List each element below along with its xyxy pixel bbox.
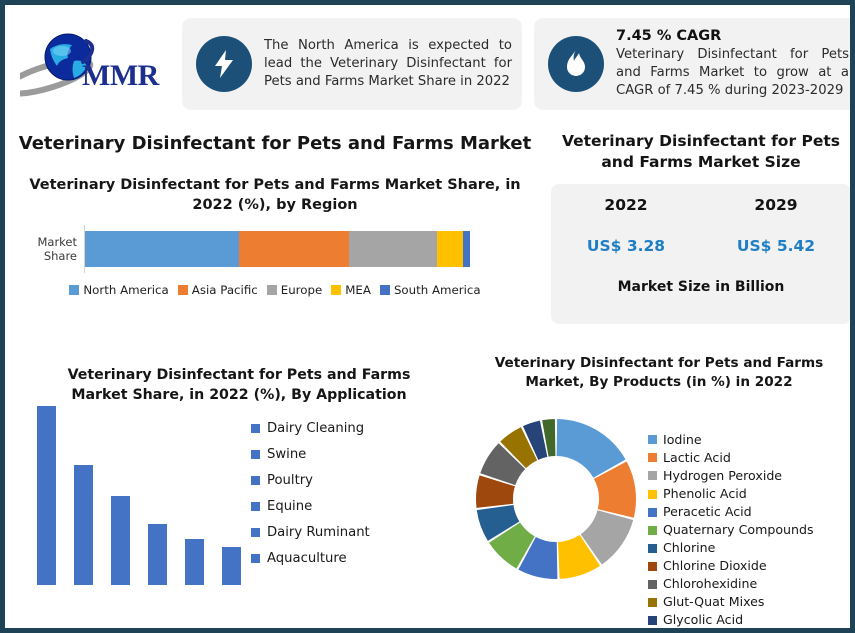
region-legend: North AmericaAsia PacificEuropeMEASouth … [15,283,535,297]
region-segment-asia-pacific [239,231,349,267]
legend-swatch-icon [331,285,341,295]
highlight-card-cagr: 7.45 % CAGR Veterinary Disinfectant for … [534,18,855,110]
region-legend-item: Asia Pacific [178,283,258,297]
application-chart-title: Veterinary Disinfectant for Pets and Far… [19,365,459,405]
application-bar [222,547,241,585]
region-chart-title: Veterinary Disinfectant for Pets and Far… [15,176,535,215]
products-legend-label: Peracetic Acid [663,505,752,519]
market-size-unit: Market Size in Billion [551,279,851,295]
application-legend-item: Dairy Cleaning [251,421,459,436]
region-legend-label: Asia Pacific [192,283,258,297]
region-category-label: Market Share [15,235,84,264]
application-legend-label: Dairy Cleaning [267,421,364,436]
market-size-title: Veterinary Disinfectant for Pets and Far… [551,131,851,173]
products-legend-label: Chlorine Dioxide [663,559,767,573]
region-legend-label: South America [394,283,481,297]
legend-swatch-icon [648,544,657,553]
page-title: Veterinary Disinfectant for Pets and Far… [15,133,535,154]
products-legend-item: Phenolic Acid [648,487,855,501]
application-bar [74,465,93,585]
market-size-box: 2022 US$ 3.28 2029 US$ 5.42 Market Size … [551,184,851,324]
application-legend-item: Aquaculture [251,551,459,566]
application-share-panel: Veterinary Disinfectant for Pets and Far… [19,365,459,633]
highlight-card-cagr-text: Veterinary Disinfectant for Pets and Far… [616,46,849,101]
brand-logo: MMR [10,14,180,114]
products-legend-label: Quaternary Compounds [663,523,814,537]
products-legend-label: Glycolic Acid [663,613,743,627]
application-bar [37,406,56,585]
products-legend-item: Glut-Quat Mixes [648,595,855,609]
application-legend-label: Equine [267,499,312,514]
legend-swatch-icon [251,476,260,485]
region-segment-europe [349,231,438,267]
legend-swatch-icon [648,471,657,480]
market-size-year-start: 2022 [551,196,701,214]
legend-swatch-icon [648,562,657,571]
products-legend: IodineLactic AcidHydrogen PeroxidePhenol… [648,399,855,633]
products-legend-item: Iodine [648,433,855,447]
products-legend-label: Iodine [663,433,702,447]
application-bar [185,539,204,585]
products-legend-item: Peracetic Acid [648,505,855,519]
products-legend-label: Chlorine [663,541,715,555]
products-donut-chart [463,399,648,599]
products-legend-item: Hydrogen Peroxide [648,469,855,483]
products-share-panel: Veterinary Disinfectant for Pets and Far… [463,350,855,633]
market-size-panel: Veterinary Disinfectant for Pets and Far… [551,131,851,336]
lightning-bolt-icon [196,36,252,92]
application-bars [37,403,245,585]
region-segment-north-america [85,231,239,267]
legend-swatch-icon [251,502,260,511]
products-legend-label: Glut-Quat Mixes [663,595,764,609]
application-legend-label: Dairy Ruminant [267,525,370,540]
legend-swatch-icon [251,554,260,563]
highlight-card-region-text: The North America is expected to lead th… [264,37,512,92]
products-legend-item: Quaternary Compounds [648,523,855,537]
brand-logo-text: MMR [82,59,159,93]
application-legend-item: Equine [251,499,459,514]
products-legend-item: Chlorohexidine [648,577,855,591]
header-bar: MMR The North America is expected to lea… [10,10,855,118]
application-bar [111,496,130,585]
application-legend-label: Swine [267,447,306,462]
application-bar-chart [19,417,251,607]
region-segment-south-america [463,231,470,267]
application-legend-item: Dairy Ruminant [251,525,459,540]
region-stacked-bar [85,231,470,267]
region-legend-label: Europe [281,283,323,297]
products-chart-title: Veterinary Disinfectant for Pets and Far… [463,350,855,393]
legend-swatch-icon [648,508,657,517]
region-legend-item: South America [380,283,481,297]
legend-swatch-icon [267,285,277,295]
region-segment-mea [437,231,462,267]
legend-swatch-icon [251,528,260,537]
products-legend-item: Chlorine Dioxide [648,559,855,573]
application-legend-label: Poultry [267,473,313,488]
products-legend-label: Chlorohexidine [663,577,757,591]
legend-swatch-icon [648,616,657,625]
region-legend-item: North America [69,283,168,297]
products-legend-label: Phenolic Acid [663,487,747,501]
products-legend-label: Hydrogen Peroxide [663,469,782,483]
legend-swatch-icon [251,450,260,459]
application-legend-item: Swine [251,447,459,462]
application-legend: Dairy CleaningSwinePoultryEquineDairy Ru… [251,417,459,607]
legend-swatch-icon [251,424,260,433]
products-legend-label: Lactic Acid [663,451,731,465]
legend-swatch-icon [648,580,657,589]
legend-swatch-icon [648,598,657,607]
region-legend-label: North America [83,283,168,297]
market-size-value-end: US$ 5.42 [701,237,851,255]
products-legend-item: Glycolic Acid [648,613,855,627]
legend-swatch-icon [380,285,390,295]
application-legend-label: Aquaculture [267,551,347,566]
region-stacked-bar-chart: Market Share [15,225,535,273]
legend-swatch-icon [648,453,657,462]
highlight-card-region: The North America is expected to lead th… [182,18,522,110]
market-size-year-end: 2029 [701,196,851,214]
infographic-page: MMR The North America is expected to lea… [0,0,855,633]
flame-icon [548,36,604,92]
region-share-panel: Veterinary Disinfectant for Pets and Far… [15,123,535,343]
legend-swatch-icon [648,526,657,535]
region-legend-item: Europe [267,283,323,297]
products-legend-item: Lactic Acid [648,451,855,465]
legend-swatch-icon [178,285,188,295]
products-legend-item: Chlorine [648,541,855,555]
legend-swatch-icon [648,435,657,444]
market-size-value-start: US$ 3.28 [551,237,701,255]
application-legend-item: Poultry [251,473,459,488]
legend-swatch-icon [69,285,79,295]
cagr-value: 7.45 % CAGR [616,28,849,44]
region-legend-label: MEA [345,283,371,297]
application-bar [148,524,167,585]
legend-swatch-icon [648,490,657,499]
region-legend-item: MEA [331,283,371,297]
